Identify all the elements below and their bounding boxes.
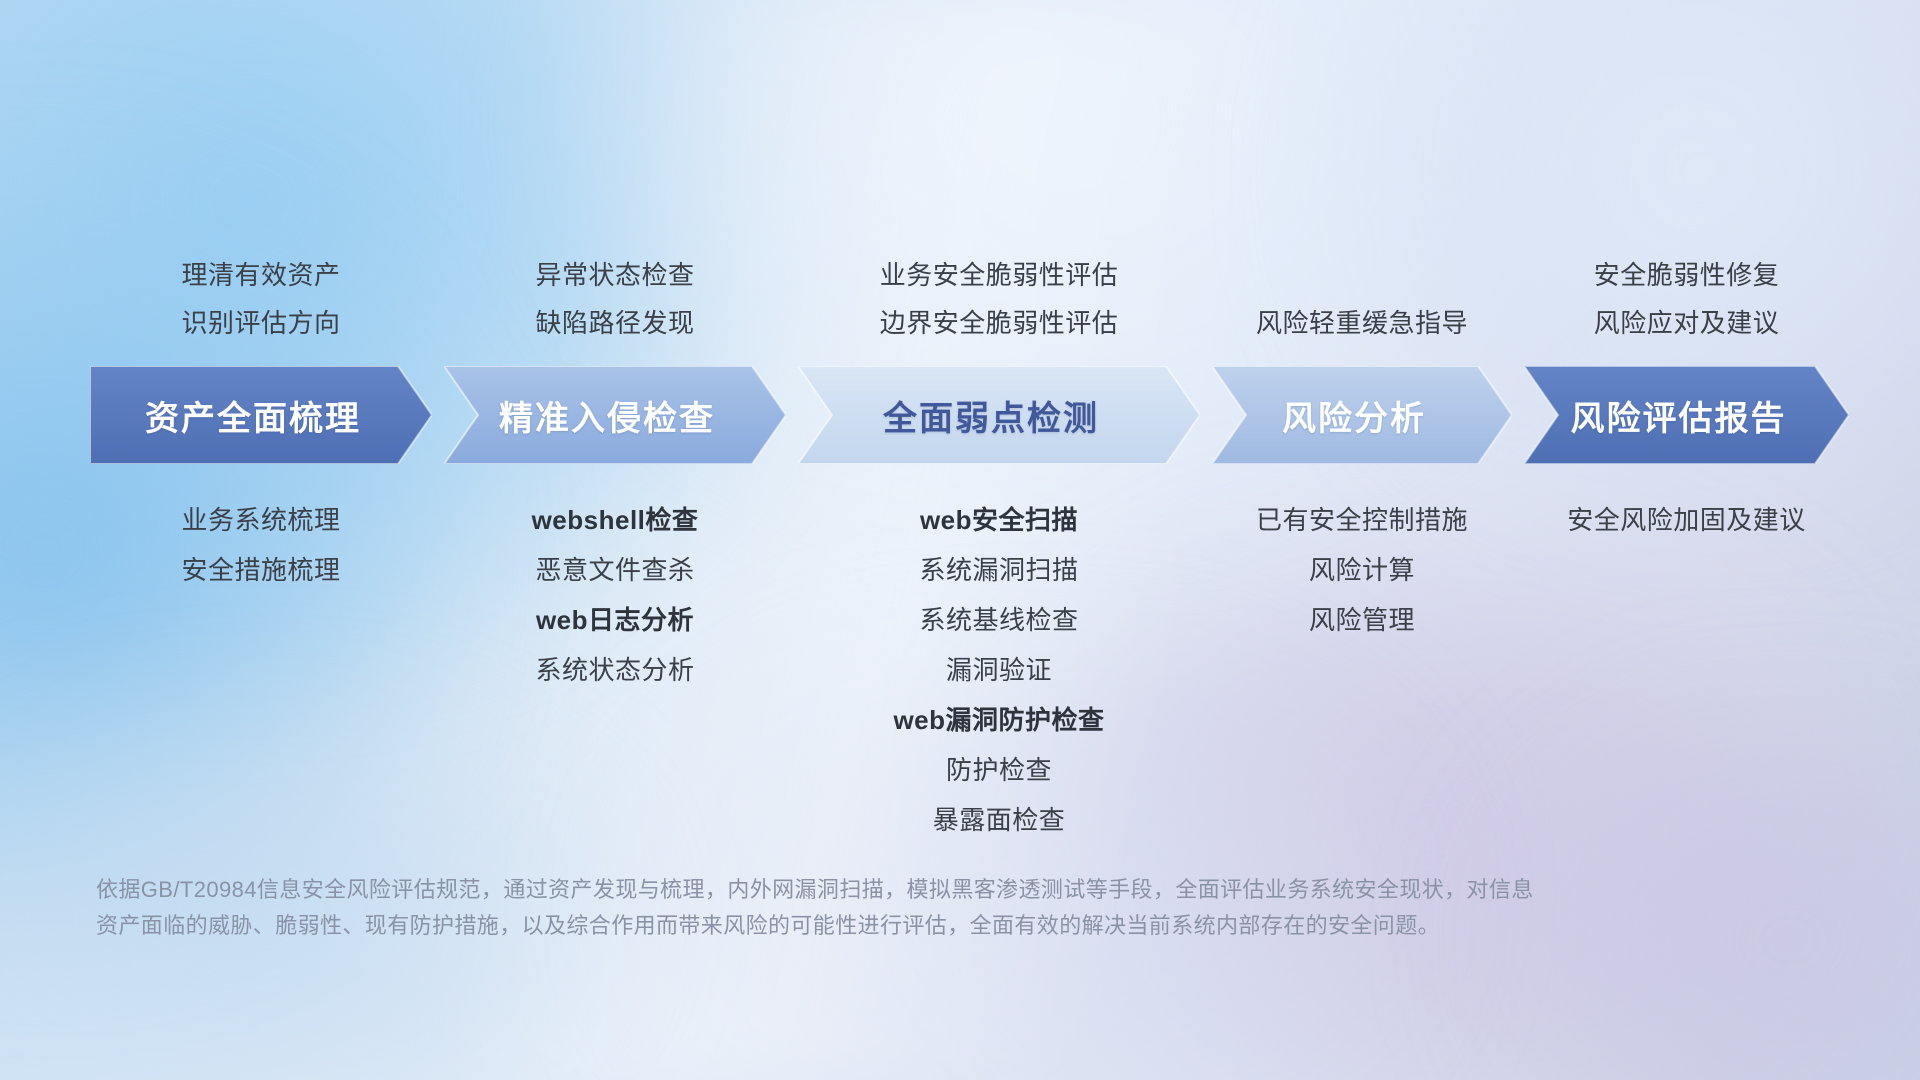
bottom-label-item: webshell检查 bbox=[444, 504, 786, 536]
chevron-label: 风险分析 bbox=[1282, 391, 1426, 440]
bottom-label-item: 漏洞验证 bbox=[798, 654, 1200, 686]
bottom-label-item: 系统状态分析 bbox=[444, 654, 786, 686]
bottom-label-item: 风险计算 bbox=[1212, 554, 1512, 586]
top-label-row: 理清有效资产识别评估方向异常状态检查缺陷路径发现业务安全脆弱性评估边界安全脆弱性… bbox=[90, 228, 1850, 340]
top-label-item: 边界安全脆弱性评估 bbox=[798, 306, 1200, 340]
chevron-stage-risk-analysis[interactable]: 风险分析 bbox=[1212, 366, 1512, 464]
bottom-label-item: 业务系统梳理 bbox=[90, 504, 432, 536]
process-diagram: 理清有效资产识别评估方向异常状态检查缺陷路径发现业务安全脆弱性评估边界安全脆弱性… bbox=[0, 0, 1920, 1080]
bottom-label-item: 安全风险加固及建议 bbox=[1524, 504, 1849, 536]
bottom-label-column-assessment-report: 安全风险加固及建议 bbox=[1524, 504, 1849, 536]
bottom-label-item: 系统漏洞扫描 bbox=[798, 554, 1200, 586]
top-label-item: 识别评估方向 bbox=[90, 306, 432, 340]
chevron-stage-asset-inventory[interactable]: 资产全面梳理 bbox=[90, 366, 432, 464]
top-label-column-weakness-detection: 业务安全脆弱性评估边界安全脆弱性评估 bbox=[798, 258, 1200, 340]
chevron-label: 精准入侵检查 bbox=[499, 391, 715, 440]
top-label-column-intrusion-check: 异常状态检查缺陷路径发现 bbox=[444, 258, 786, 340]
top-label-column-asset-inventory: 理清有效资产识别评估方向 bbox=[90, 258, 432, 340]
bottom-label-item: web漏洞防护检查 bbox=[798, 704, 1200, 736]
chevron-label: 风险评估报告 bbox=[1571, 391, 1787, 440]
bottom-label-column-risk-analysis: 已有安全控制措施风险计算风险管理 bbox=[1212, 504, 1512, 636]
bottom-label-item: web安全扫描 bbox=[798, 504, 1200, 536]
bottom-label-item: 恶意文件查杀 bbox=[444, 554, 786, 586]
footer-description: 依据GB/T20984信息安全风险评估规范，通过资产发现与梳理，内外网漏洞扫描，… bbox=[96, 872, 1616, 944]
bottom-label-item: 安全措施梳理 bbox=[90, 554, 432, 586]
bottom-label-row: 业务系统梳理安全措施梳理webshell检查恶意文件查杀web日志分析系统状态分… bbox=[90, 504, 1850, 836]
top-label-item: 理清有效资产 bbox=[90, 258, 432, 292]
bottom-label-item: 防护检查 bbox=[798, 754, 1200, 786]
chevron-label: 全面弱点检测 bbox=[883, 391, 1099, 440]
top-label-item: 风险应对及建议 bbox=[1524, 306, 1849, 340]
bottom-label-column-intrusion-check: webshell检查恶意文件查杀web日志分析系统状态分析 bbox=[444, 504, 786, 686]
bottom-label-item: 系统基线检查 bbox=[798, 604, 1200, 636]
top-label-item: 缺陷路径发现 bbox=[444, 306, 786, 340]
top-label-item: 异常状态检查 bbox=[444, 258, 786, 292]
bottom-label-item: 暴露面检查 bbox=[798, 804, 1200, 836]
footer-line-1: 依据GB/T20984信息安全风险评估规范，通过资产发现与梳理，内外网漏洞扫描，… bbox=[96, 872, 1616, 908]
chevron-label: 资产全面梳理 bbox=[145, 391, 361, 440]
bottom-label-item: 风险管理 bbox=[1212, 604, 1512, 636]
chevron-stage-intrusion-check[interactable]: 精准入侵检查 bbox=[444, 366, 786, 464]
top-label-column-assessment-report: 安全脆弱性修复风险应对及建议 bbox=[1524, 258, 1849, 340]
top-label-item: 业务安全脆弱性评估 bbox=[798, 258, 1200, 292]
chevron-stage-weakness-detection[interactable]: 全面弱点检测 bbox=[798, 366, 1200, 464]
top-label-item: 安全脆弱性修复 bbox=[1524, 258, 1849, 292]
bottom-label-column-weakness-detection: web安全扫描系统漏洞扫描系统基线检查漏洞验证web漏洞防护检查防护检查暴露面检… bbox=[798, 504, 1200, 836]
top-label-item: 风险轻重缓急指导 bbox=[1212, 306, 1512, 340]
footer-line-2: 资产面临的威胁、脆弱性、现有防护措施，以及综合作用而带来风险的可能性进行评估，全… bbox=[96, 908, 1616, 944]
bottom-label-item: web日志分析 bbox=[444, 604, 786, 636]
top-label-column-risk-analysis: 风险轻重缓急指导 bbox=[1212, 306, 1512, 340]
chevron-stage-assessment-report[interactable]: 风险评估报告 bbox=[1524, 366, 1849, 464]
bottom-label-item: 已有安全控制措施 bbox=[1212, 504, 1512, 536]
bottom-label-column-asset-inventory: 业务系统梳理安全措施梳理 bbox=[90, 504, 432, 586]
chevron-band: 资产全面梳理 精准入侵检查 bbox=[90, 366, 1850, 464]
